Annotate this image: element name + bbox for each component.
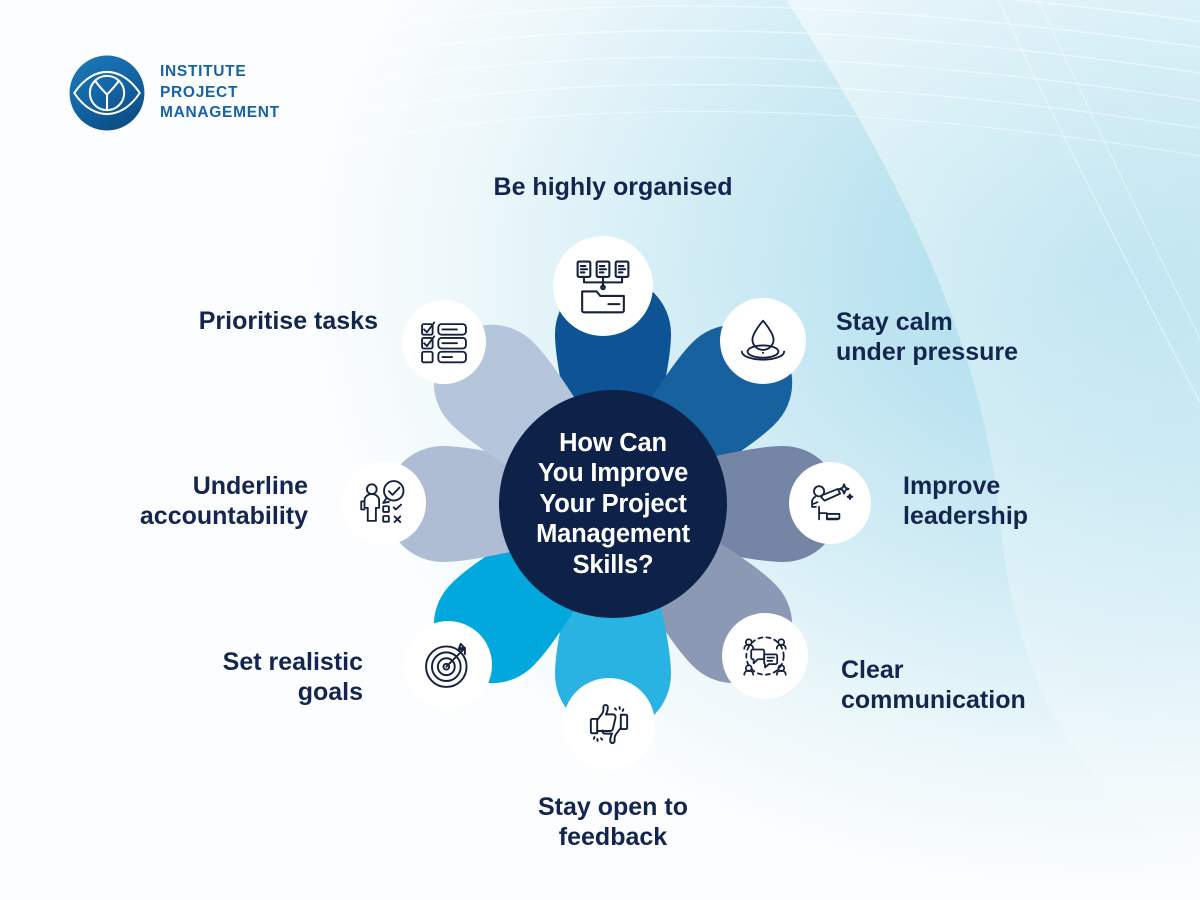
hub-title: How Can You Improve Your Project Managem…	[522, 428, 704, 581]
target-dart-icon	[421, 638, 475, 692]
icon-bubble-stay-open-to-feedback[interactable]	[563, 678, 655, 770]
icon-bubble-clear-communication[interactable]	[722, 613, 808, 699]
person-approval-checklist-icon	[358, 477, 410, 529]
label-clear-communication: Clear communication	[841, 655, 1131, 715]
icon-bubble-be-highly-organised[interactable]	[553, 236, 653, 336]
team-speech-bubbles-icon	[739, 630, 791, 682]
icon-bubble-set-realistic-goals[interactable]	[404, 621, 492, 709]
icon-bubble-stay-calm-under-pressure[interactable]	[720, 298, 806, 384]
icon-bubble-improve-leadership[interactable]	[789, 462, 871, 544]
checklist-icon	[418, 316, 470, 368]
label-stay-calm-under-pressure: Stay calm under pressure	[836, 307, 1096, 367]
label-stay-open-to-feedback: Stay open to feedback	[493, 792, 733, 852]
person-telescope-icon	[805, 478, 855, 528]
icon-bubble-underline-accountability[interactable]	[342, 461, 426, 545]
icon-bubble-prioritise-tasks[interactable]	[402, 300, 486, 384]
skills-wheel: How Can You Improve Your Project Managem…	[0, 0, 1200, 900]
label-prioritise-tasks: Prioritise tasks	[98, 306, 378, 336]
label-underline-accountability: Underline accountability	[38, 471, 308, 531]
documents-folder-icon	[574, 257, 632, 315]
label-set-realistic-goals: Set realistic goals	[123, 647, 363, 707]
center-hub: How Can You Improve Your Project Managem…	[499, 390, 727, 618]
water-droplet-ripple-icon	[737, 315, 789, 367]
label-improve-leadership: Improve leadership	[903, 471, 1153, 531]
thumbs-up-down-icon	[582, 697, 636, 751]
infographic-canvas: INSTITUTE PROJECT MANAGEMENT	[0, 0, 1200, 900]
label-be-highly-organised: Be highly organised	[479, 172, 747, 202]
